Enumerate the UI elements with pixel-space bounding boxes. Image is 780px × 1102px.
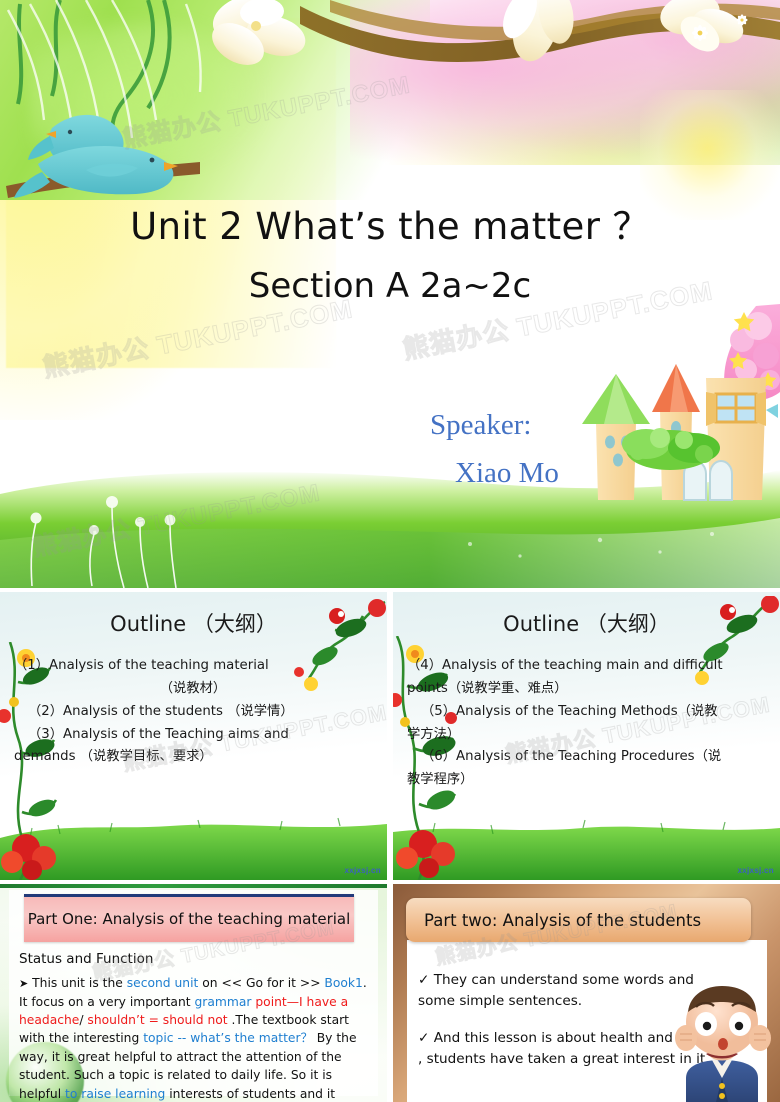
text-run: topic -- what’s the matter？ bbox=[143, 1031, 313, 1045]
text-run: This unit is the bbox=[32, 976, 127, 990]
boy-hand-right bbox=[749, 1025, 771, 1051]
outline-line: （2）Analysis of the students （说学情） bbox=[14, 701, 372, 724]
outline-grass-2 bbox=[393, 810, 780, 880]
title-green-glow bbox=[30, 20, 260, 170]
text-run: second unit bbox=[127, 976, 199, 990]
outline-line: （6）Analysis of the Teaching Procedures（说 bbox=[407, 746, 765, 769]
title-yellow-bokeh bbox=[640, 90, 780, 220]
speaker-label: Speaker: bbox=[430, 409, 630, 442]
corner-watermark-1: xxjxsj.cn bbox=[344, 866, 381, 875]
outline-line: （5）Analysis of the Teaching Methods（说教 bbox=[407, 701, 765, 724]
cartoon-boy-illustration bbox=[666, 982, 778, 1102]
slide-title[interactable]: Unit 2 What’s the matter ？ Section A 2a~… bbox=[0, 0, 780, 588]
outline-body-1: （1）Analysis of the teaching material （说教… bbox=[14, 655, 372, 769]
slide-part-one[interactable]: Part One: Analysis of the teaching mater… bbox=[0, 884, 387, 1102]
speaker-name: Xiao Mo bbox=[455, 457, 675, 490]
outline-line: 学方法） bbox=[407, 724, 765, 747]
outline-line: （3）Analysis of the Teaching aims and bbox=[14, 724, 372, 747]
text-run: to raise learning bbox=[65, 1087, 165, 1101]
part-two-title-box: Part two: Analysis of the students bbox=[406, 898, 751, 942]
outline-grass-1 bbox=[0, 810, 387, 880]
outline-line: （1）Analysis of the teaching material bbox=[14, 655, 372, 678]
slide-outline-1[interactable]: Outline （大纲） （1）Analysis of the teaching… bbox=[0, 592, 387, 880]
slide-thumbnail-page: Unit 2 What’s the matter ？ Section A 2a~… bbox=[0, 0, 780, 1102]
part-one-top-bar bbox=[0, 884, 387, 888]
outline-line: demands （说教学目标、要求） bbox=[14, 746, 372, 769]
text-run: Book1 bbox=[324, 976, 362, 990]
outline-line: （说教材） bbox=[14, 678, 372, 701]
text-run: shouldn’t = should not bbox=[87, 1013, 227, 1027]
slide-outline-2[interactable]: Outline （大纲） （4）Analysis of the teaching… bbox=[393, 592, 780, 880]
part-one-title-box: Part One: Analysis of the teaching mater… bbox=[24, 894, 354, 942]
part-one-subheading: Status and Function bbox=[19, 951, 153, 967]
slide-title-line1: Unit 2 What’s the matter ？ bbox=[0, 205, 780, 249]
outline-heading-2: Outline （大纲） bbox=[393, 608, 780, 638]
text-run: interests of students and it bbox=[165, 1087, 335, 1101]
outline-line: 教学程序） bbox=[407, 769, 765, 792]
boy-mouth bbox=[718, 1038, 728, 1050]
outline-line: （4）Analysis of the teaching main and dif… bbox=[407, 655, 765, 678]
boy-hand-left bbox=[675, 1025, 697, 1051]
bullet-arrow-icon: ➤ bbox=[19, 977, 28, 990]
slide-part-two[interactable]: Part two: Analysis of the students ✓ The… bbox=[393, 884, 780, 1102]
slide-title-line2: Section A 2a~2c bbox=[0, 266, 780, 306]
outline-heading-1: Outline （大纲） bbox=[0, 608, 387, 638]
part-one-body: ➤ This unit is the second unit on << Go … bbox=[19, 974, 371, 1102]
part-one-rich-text: This unit is the second unit on << Go fo… bbox=[19, 976, 367, 1101]
outline-line: points（说教学重、难点） bbox=[407, 678, 765, 701]
outline-body-2: （4）Analysis of the teaching main and dif… bbox=[407, 655, 765, 792]
text-run: on << Go for it >> bbox=[198, 976, 324, 990]
text-run: grammar bbox=[195, 995, 252, 1009]
corner-watermark-2: xxjxsj.cn bbox=[737, 866, 774, 875]
